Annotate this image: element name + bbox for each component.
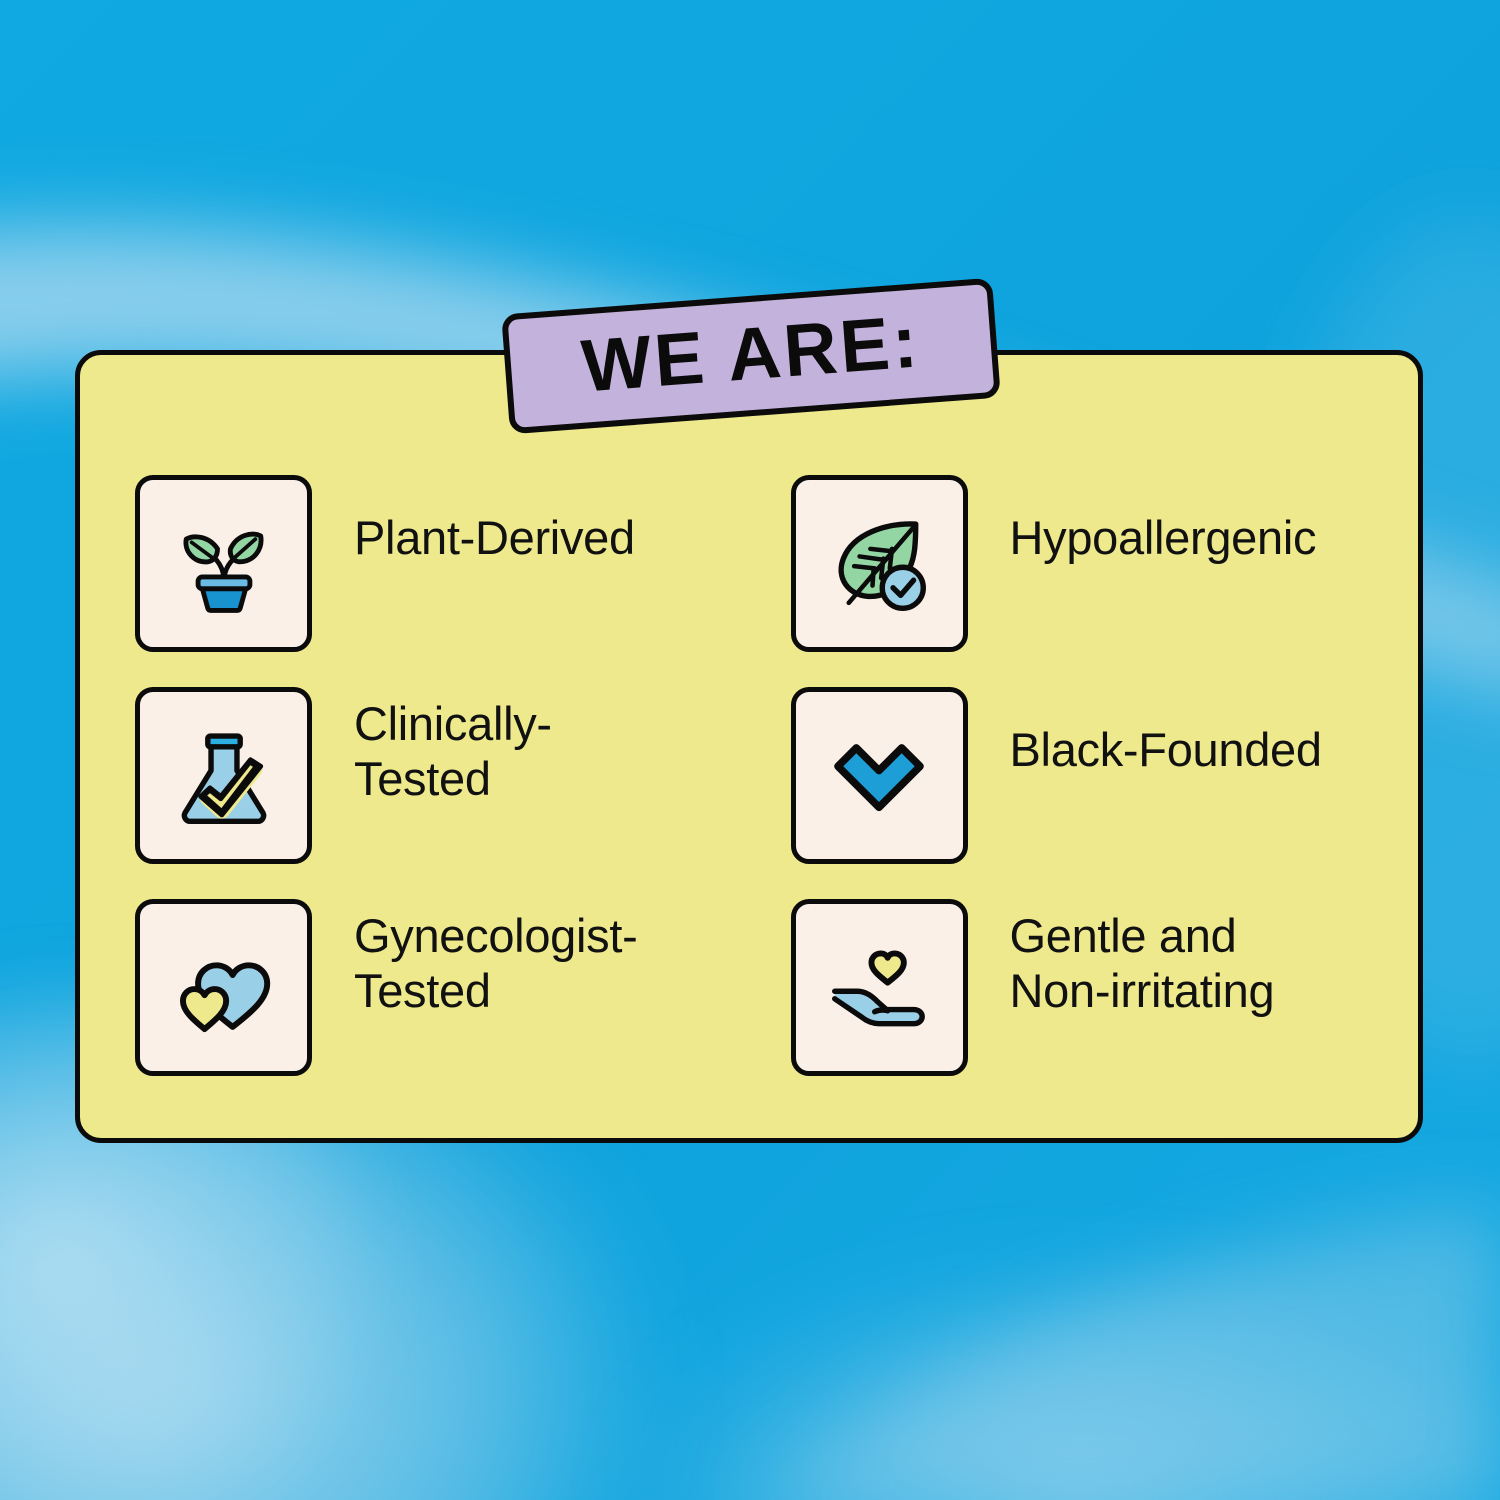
icon-tile — [791, 687, 968, 864]
icon-tile — [135, 475, 312, 652]
feature-hypoallergenic[interactable]: Hypoallergenic — [791, 475, 1381, 687]
feature-clinically-tested[interactable]: Clinically- Tested — [135, 687, 725, 899]
potted-plant-icon — [170, 510, 278, 618]
icon-tile — [135, 899, 312, 1076]
icon-tile — [791, 475, 968, 652]
feature-label: Plant-Derived — [354, 475, 635, 566]
icon-tile — [791, 899, 968, 1076]
double-hearts-icon — [170, 934, 278, 1042]
feature-label: Gentle and Non-irritating — [1010, 899, 1275, 1019]
feature-grid: Plant-Derived Hypoallergenic — [135, 475, 1380, 1111]
geometric-heart-icon — [825, 722, 933, 830]
icon-tile — [135, 687, 312, 864]
feature-gynecologist-tested[interactable]: Gynecologist- Tested — [135, 899, 725, 1111]
feature-label: Clinically- Tested — [354, 687, 552, 807]
feature-gentle-non-irritating[interactable]: Gentle and Non-irritating — [791, 899, 1381, 1111]
banner-title: WE ARE: — [579, 304, 923, 403]
feature-label: Hypoallergenic — [1010, 475, 1317, 566]
feature-plant-derived[interactable]: Plant-Derived — [135, 475, 725, 687]
flask-check-icon — [170, 722, 278, 830]
feature-label: Black-Founded — [1010, 687, 1322, 778]
leaf-check-icon — [825, 510, 933, 618]
feature-label: Gynecologist- Tested — [354, 899, 637, 1019]
feature-black-founded[interactable]: Black-Founded — [791, 687, 1381, 899]
hand-holding-heart-icon — [825, 934, 933, 1042]
